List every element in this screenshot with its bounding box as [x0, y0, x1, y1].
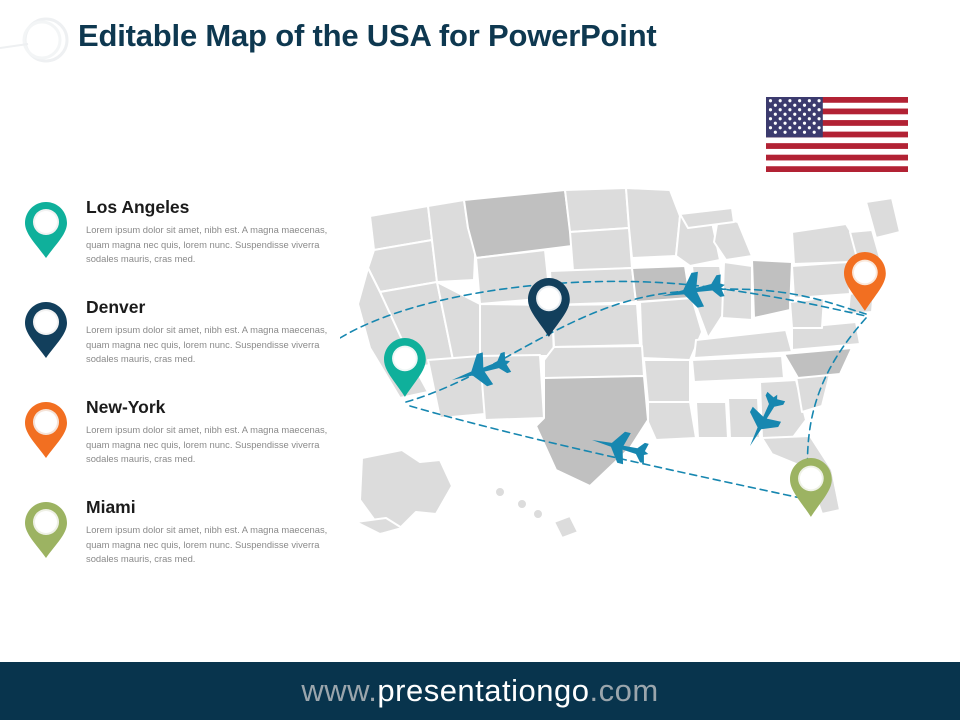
decorative-spiral [0, 14, 78, 66]
usa-map[interactable] [340, 170, 960, 600]
map-pin-icon [22, 400, 70, 460]
state-alaska [360, 450, 452, 530]
url-suffix: .com [590, 673, 659, 708]
website-url[interactable]: www.presentationgo.com [0, 662, 960, 720]
legend-description: Lorem ipsum dolor sit amet, nibh est. A … [86, 323, 331, 366]
state-north-dakota [565, 188, 629, 232]
legend-description: Lorem ipsum dolor sit amet, nibh est. A … [86, 223, 331, 266]
state-texas [536, 376, 648, 486]
legend-city-name: Los Angeles [86, 198, 338, 217]
map-pin-icon [22, 500, 70, 560]
state-west-virginia [790, 298, 824, 328]
legend-description: Lorem ipsum dolor sit amet, nibh est. A … [86, 523, 331, 566]
url-brand: presentationgo [377, 673, 589, 708]
page-title: Editable Map of the USA for PowerPoint [78, 18, 657, 54]
state-missouri [640, 298, 702, 360]
legend-city-name: New-York [86, 398, 338, 417]
legend-city-name: Miami [86, 498, 338, 517]
city-legend-list: Los Angeles Lorem ipsum dolor sit amet, … [18, 190, 338, 590]
state-hawaii [495, 487, 578, 538]
state-ohio [752, 260, 792, 318]
list-item[interactable]: Miami Lorem ipsum dolor sit amet, nibh e… [18, 498, 338, 590]
state-montana [464, 190, 572, 258]
url-prefix: www. [301, 673, 377, 708]
state-arkansas [644, 360, 690, 402]
footer-bar: www.presentationgo.com [0, 662, 960, 720]
state-minnesota [626, 188, 680, 258]
state-indiana [722, 262, 752, 320]
state-oklahoma [544, 346, 644, 378]
state-tennessee [692, 356, 784, 382]
state-new-mexico [480, 355, 544, 420]
state-north-carolina [784, 348, 852, 378]
state-pennsylvania [792, 262, 850, 298]
state-louisiana [648, 402, 696, 440]
legend-city-name: Denver [86, 298, 338, 317]
list-item[interactable]: New-York Lorem ipsum dolor sit amet, nib… [18, 398, 338, 490]
spiral-circle-icon [0, 14, 78, 66]
usa-flag-icon [766, 97, 908, 172]
map-pin-icon [22, 300, 70, 360]
legend-description: Lorem ipsum dolor sit amet, nibh est. A … [86, 423, 331, 466]
state-mississippi [696, 402, 728, 438]
list-item[interactable]: Los Angeles Lorem ipsum dolor sit amet, … [18, 198, 338, 290]
state-south-dakota [570, 228, 632, 271]
list-item[interactable]: Denver Lorem ipsum dolor sit amet, nibh … [18, 298, 338, 390]
map-pin-icon [22, 200, 70, 260]
